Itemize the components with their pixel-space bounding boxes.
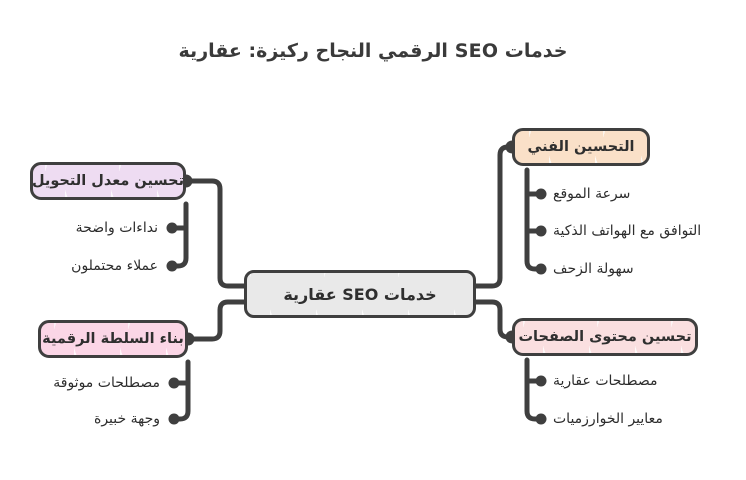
page-title: خدمات SEO الرقمي النجاح ركيزة: عقارية — [0, 40, 746, 62]
connector-layer — [0, 0, 746, 480]
leaf-technical-0[interactable]: سرعة الموقع — [553, 187, 630, 201]
wire-center-to-authority — [188, 302, 244, 339]
branch-node-authority[interactable]: بناء السلطة الرقمية — [38, 320, 188, 358]
dot-technical-leaf-2 — [536, 264, 547, 275]
leaf-authority-0[interactable]: مصطلحات موثوقة — [53, 376, 160, 390]
wire-center-to-onpage — [476, 302, 512, 337]
wire-center-to-conversion — [186, 181, 244, 286]
dot-technical-leaf-1 — [536, 226, 547, 237]
branch-node-technical-label: التحسين الفني — [528, 139, 635, 155]
spine-authority — [174, 362, 188, 419]
dot-onpage-leaf-1 — [536, 414, 547, 425]
branch-node-conversion-label: تحسين معدل التحويل — [32, 173, 184, 189]
branch-node-technical[interactable]: التحسين الفني — [512, 128, 650, 166]
branch-node-onpage-label: تحسين محتوى الصفحات — [518, 329, 691, 345]
dot-authority-leaf-1 — [169, 414, 180, 425]
central-node-label: خدمات SEO عقارية — [283, 285, 436, 304]
leaf-onpage-0[interactable]: مصطلحات عقارية — [553, 374, 658, 388]
leaf-conversion-1[interactable]: عملاء محتملون — [71, 259, 158, 273]
dot-technical-leaf-0 — [536, 189, 547, 200]
mindmap-canvas: خدمات SEO الرقمي النجاح ركيزة: عقارية — [0, 0, 746, 480]
dot-conversion-leaf-1 — [167, 261, 178, 272]
spine-technical — [527, 170, 541, 269]
branch-node-authority-label: بناء السلطة الرقمية — [42, 331, 184, 347]
leaf-technical-1[interactable]: التوافق مع الهواتف الذكية — [553, 224, 701, 238]
branch-node-conversion[interactable]: تحسين معدل التحويل — [30, 162, 186, 200]
branch-node-onpage[interactable]: تحسين محتوى الصفحات — [512, 318, 698, 356]
leaf-technical-2[interactable]: سهولة الزحف — [553, 262, 634, 276]
dot-conversion-leaf-0 — [167, 223, 178, 234]
leaf-authority-1[interactable]: وجهة خبيرة — [94, 412, 160, 426]
central-node[interactable]: خدمات SEO عقارية — [244, 270, 476, 318]
leaf-onpage-1[interactable]: معايير الخوارزميات — [553, 412, 663, 426]
spine-onpage — [527, 360, 541, 419]
leaf-conversion-0[interactable]: نداءات واضحة — [76, 221, 158, 235]
dot-onpage-leaf-0 — [536, 376, 547, 387]
wire-center-to-technical — [476, 147, 512, 286]
dot-authority-leaf-0 — [169, 378, 180, 389]
spine-conversion — [172, 204, 186, 266]
